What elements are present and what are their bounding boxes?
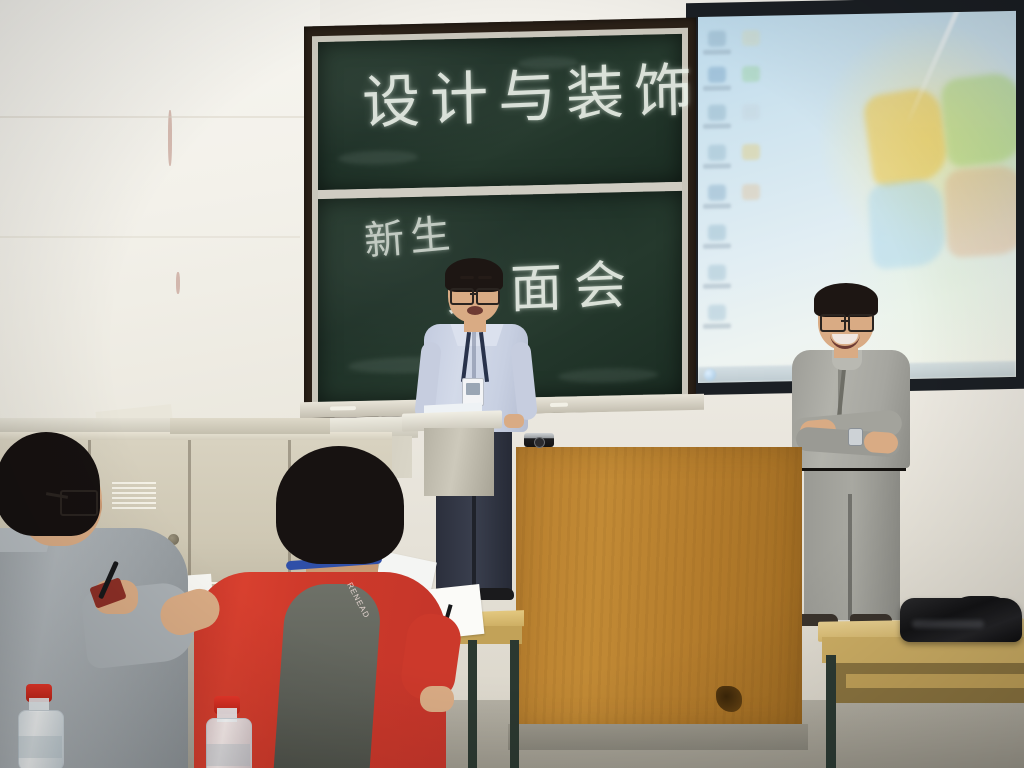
wood-desk-middle-leg <box>510 640 519 768</box>
man2-leg-gap <box>848 494 852 620</box>
standing-man-right <box>786 288 916 628</box>
desktop-icon-label <box>703 243 731 249</box>
desktop-icon[interactable] <box>708 304 726 320</box>
wall-crack <box>0 236 300 238</box>
student-right-hand <box>420 686 454 712</box>
wood-desk-right-shelf <box>846 674 1024 688</box>
desktop-icon[interactable] <box>708 104 726 120</box>
win-flag-yellow <box>862 86 950 189</box>
wood-desk-middle-leg <box>468 640 477 768</box>
desktop-icon-label <box>703 323 731 329</box>
desktop-icon[interactable] <box>708 144 726 160</box>
desktop-icon[interactable] <box>708 66 726 82</box>
camera-lens-icon <box>534 437 545 448</box>
desktop-icon-label <box>703 163 731 169</box>
desktop-icon[interactable] <box>742 66 760 82</box>
man2-glasses-left-lens-icon <box>820 314 846 332</box>
desktop-icon[interactable] <box>708 224 726 240</box>
man2-glasses-right-lens-icon <box>848 314 874 332</box>
bag-highlight <box>912 620 984 628</box>
desktop-icon-label <box>703 203 731 209</box>
student-right-hair <box>276 446 404 564</box>
wall-left-section <box>0 0 320 455</box>
classroom-scene: 设计与装饰 新生 见面会 <box>0 0 1024 768</box>
speaker-eyebrow-left <box>460 276 474 279</box>
desktop-icon[interactable] <box>708 30 726 46</box>
speaker-hair <box>445 258 503 292</box>
win-flag-blue <box>867 178 947 270</box>
student-left-glasses-icon <box>60 490 98 516</box>
water-bottle-right <box>206 708 250 768</box>
desktop-icon[interactable] <box>742 184 760 200</box>
speaker-mouth <box>467 306 483 315</box>
man2-glasses-bridge-icon <box>841 320 849 322</box>
man2-forearm-right <box>863 431 898 454</box>
speaker-glasses-right-lens-icon <box>476 288 500 305</box>
desktop-icon-label <box>703 123 731 129</box>
desktop-icon[interactable] <box>708 264 726 280</box>
bottle-label-right <box>206 744 250 766</box>
wood-panel-base <box>508 724 808 750</box>
speaker-hand-right <box>504 414 524 428</box>
wall-crack <box>0 116 310 118</box>
win-flag-green <box>940 71 1016 168</box>
wooden-desk-front <box>516 447 802 729</box>
man2-hair <box>814 283 878 317</box>
water-bottle-left <box>18 702 62 768</box>
speaker-shoe-right <box>478 588 514 600</box>
man2-trousers <box>804 470 900 620</box>
desktop-icon[interactable] <box>708 184 726 200</box>
wall-chalk-mark <box>176 272 180 294</box>
desktop-icon[interactable] <box>742 144 760 160</box>
desktop-icon[interactable] <box>742 30 760 46</box>
bottle-label-left <box>18 736 62 758</box>
desktop-icon-label <box>703 85 731 91</box>
chalkboard-title-text: 设计与装饰 <box>361 42 702 140</box>
speaker-eyebrow-right <box>478 276 492 279</box>
desktop-icon-label <box>703 49 731 55</box>
wall-chalk-mark <box>168 110 172 166</box>
desktop-icon[interactable] <box>742 104 760 120</box>
win-flag-orange <box>944 165 1016 259</box>
speaker-glasses-bridge-icon <box>470 293 478 295</box>
chalkboard-upper-panel: 设计与装饰 <box>318 34 682 190</box>
chalkboard-subtitle-left: 新生 <box>362 201 458 267</box>
speaker-glasses-left-lens-icon <box>450 288 474 305</box>
wood-desk-right-leg <box>826 655 836 768</box>
man2-wristwatch <box>848 428 863 446</box>
desktop-icon-label <box>703 283 731 289</box>
student-left-hair <box>0 432 100 536</box>
